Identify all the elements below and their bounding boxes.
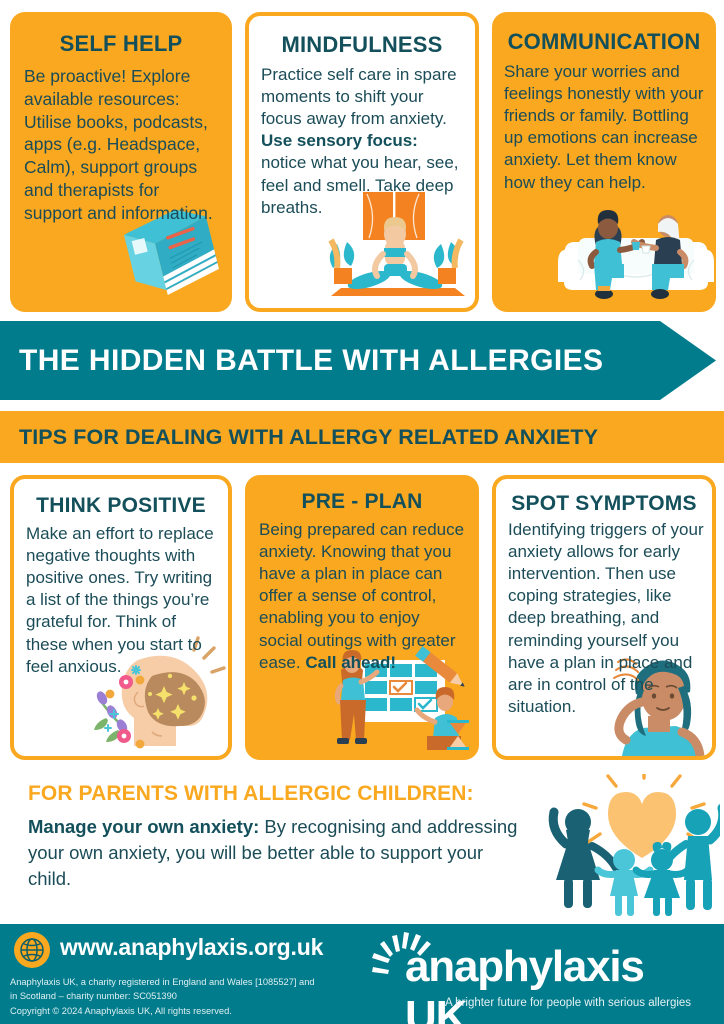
tip-body-bold: Use sensory focus: bbox=[261, 131, 418, 150]
tip-card-body: Share your worries and feelings honestly… bbox=[492, 53, 716, 194]
family-with-heart-illustration bbox=[530, 774, 720, 920]
parents-section: FOR PARENTS WITH ALLERGIC CHILDREN: Mana… bbox=[0, 772, 724, 924]
parents-text: Manage your own anxiety: By recognising … bbox=[28, 814, 528, 892]
tip-card-title: SELF HELP bbox=[10, 12, 232, 55]
tip-card-mindfulness: MINDFULNESS Practice self care in spare … bbox=[245, 12, 479, 312]
tip-card-title: THINK POSITIVE bbox=[14, 479, 228, 517]
tip-body-lead: Practice self care in spare moments to s… bbox=[261, 65, 457, 128]
subtitle-text: TIPS FOR DEALING WITH ALLERGY RELATED AN… bbox=[0, 425, 598, 450]
website-link[interactable]: www.anaphylaxis.org.uk bbox=[60, 934, 323, 961]
tip-card-title: SPOT SYMPTOMS bbox=[496, 479, 712, 515]
tip-card-title: COMMUNICATION bbox=[492, 12, 716, 53]
subtitle-banner: TIPS FOR DEALING WITH ALLERGY RELATED AN… bbox=[0, 411, 724, 463]
tip-card-body: Practice self care in spare moments to s… bbox=[249, 56, 475, 219]
main-title-banner: THE HIDDEN BATTLE WITH ALLERGIES bbox=[0, 321, 716, 400]
globe-icon bbox=[14, 932, 50, 968]
legal-line-2: in Scotland – charity number: SC051390 bbox=[10, 989, 360, 1003]
tip-card-think-positive: THINK POSITIVE Make an effort to replace… bbox=[10, 475, 232, 760]
tip-body-lead: Being prepared can reduce anxiety. Knowi… bbox=[259, 520, 464, 672]
logo-tagline: A brighter future for people with seriou… bbox=[422, 997, 714, 1009]
legal-line-1: Anaphylaxis UK, a charity registered in … bbox=[10, 975, 360, 989]
tip-card-body: Make an effort to replace negative thoug… bbox=[14, 517, 228, 678]
tip-body-rest: notice what you hear, see, feel and smel… bbox=[261, 153, 459, 216]
tip-card-spot-symptoms: SPOT SYMPTOMS Identifying triggers of yo… bbox=[492, 475, 716, 760]
tip-card-body: Being prepared can reduce anxiety. Knowi… bbox=[245, 513, 479, 674]
infographic-page: SELF HELP Be proactive! Explore availabl… bbox=[0, 0, 724, 1024]
parents-bold-lead: Manage your own anxiety: bbox=[28, 816, 259, 837]
tip-body-bold: Call ahead! bbox=[305, 653, 396, 672]
tip-card-self-help: SELF HELP Be proactive! Explore availabl… bbox=[10, 12, 232, 312]
anaphylaxis-uk-logo: anaphylaxis UK A brighter future for peo… bbox=[370, 928, 714, 1020]
logo-wordmark: anaphylaxis UK bbox=[405, 942, 714, 1024]
tip-card-body: Identifying triggers of your anxiety all… bbox=[496, 515, 712, 718]
tip-card-pre-plan: PRE - PLAN Being prepared can reduce anx… bbox=[245, 475, 479, 760]
tip-card-body: Be proactive! Explore available resource… bbox=[10, 55, 232, 224]
main-title-text: THE HIDDEN BATTLE WITH ALLERGIES bbox=[0, 344, 603, 378]
parents-heading: FOR PARENTS WITH ALLERGIC CHILDREN: bbox=[28, 782, 474, 806]
tip-card-title: MINDFULNESS bbox=[249, 16, 475, 56]
legal-line-3: Copyright © 2024 Anaphylaxis UK, All rig… bbox=[10, 1004, 360, 1018]
legal-text: Anaphylaxis UK, a charity registered in … bbox=[10, 975, 360, 1018]
tip-card-title: PRE - PLAN bbox=[245, 475, 479, 513]
two-friends-on-sofa-illustration bbox=[556, 176, 716, 306]
tip-card-communication: COMMUNICATION Share your worries and fee… bbox=[492, 12, 716, 312]
